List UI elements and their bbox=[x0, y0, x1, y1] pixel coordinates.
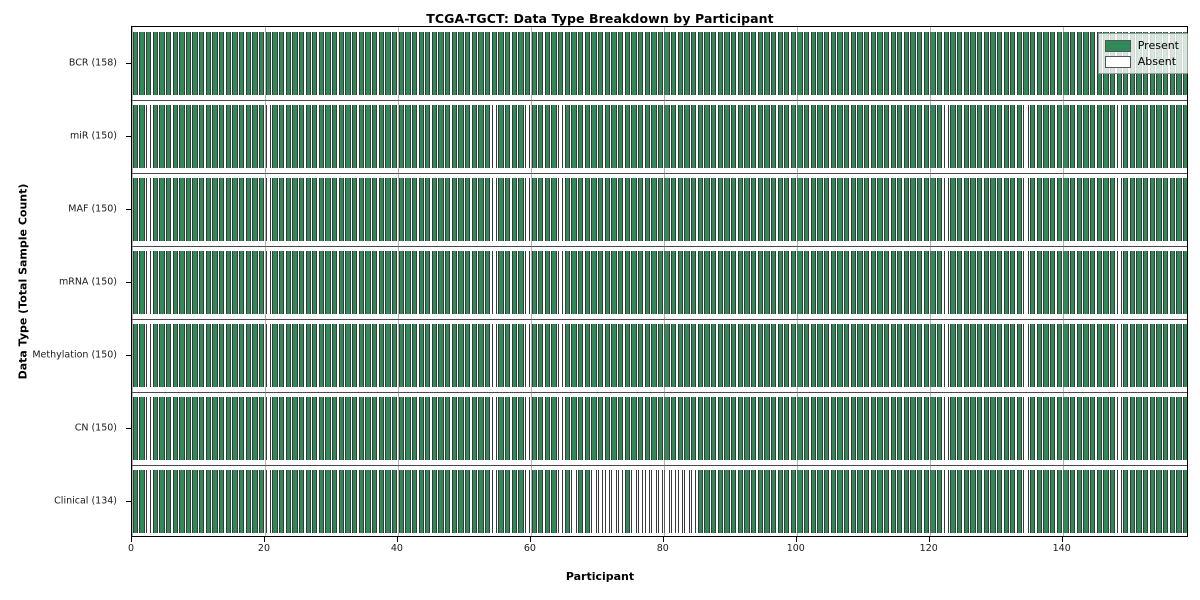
bar-present bbox=[1103, 178, 1108, 241]
bar-present bbox=[831, 105, 836, 168]
bar-present bbox=[153, 178, 158, 241]
bar-present bbox=[817, 470, 822, 533]
bar-absent bbox=[525, 324, 530, 387]
bar-present bbox=[731, 178, 736, 241]
bar-present bbox=[1163, 470, 1168, 533]
bar-present bbox=[505, 178, 510, 241]
bar-present bbox=[611, 32, 616, 95]
bar-present bbox=[485, 324, 490, 387]
bar-present bbox=[518, 178, 523, 241]
bar-present bbox=[332, 178, 337, 241]
bar-present bbox=[611, 105, 616, 168]
bar-present bbox=[857, 251, 862, 314]
bar-absent bbox=[492, 324, 497, 387]
bar-present bbox=[192, 324, 197, 387]
bar-present bbox=[671, 105, 676, 168]
bar-present bbox=[372, 32, 377, 95]
bar-present bbox=[379, 178, 384, 241]
bar-present bbox=[891, 324, 896, 387]
bar-present bbox=[724, 324, 729, 387]
bar-present bbox=[645, 178, 650, 241]
bar-present bbox=[412, 470, 417, 533]
bar-absent bbox=[664, 470, 669, 533]
bar-present bbox=[884, 32, 889, 95]
bar-present bbox=[578, 251, 583, 314]
bar-present bbox=[1057, 470, 1062, 533]
bar-present bbox=[764, 397, 769, 460]
bar-present bbox=[1057, 324, 1062, 387]
bar-present bbox=[738, 470, 743, 533]
bar-present bbox=[1170, 324, 1175, 387]
bar-present bbox=[844, 32, 849, 95]
bar-present bbox=[930, 105, 935, 168]
bar-present bbox=[664, 324, 669, 387]
bar-present bbox=[924, 470, 929, 533]
legend-item-absent[interactable]: Absent bbox=[1105, 55, 1179, 68]
bar-absent bbox=[492, 397, 497, 460]
bar-present bbox=[1010, 324, 1015, 387]
bar-present bbox=[399, 178, 404, 241]
bar-present bbox=[891, 178, 896, 241]
bar-absent bbox=[146, 105, 151, 168]
bar-present bbox=[738, 105, 743, 168]
bar-present bbox=[658, 397, 663, 460]
bar-present bbox=[1143, 397, 1148, 460]
bar-present bbox=[664, 32, 669, 95]
bar-present bbox=[651, 178, 656, 241]
bar-present bbox=[1070, 397, 1075, 460]
bar-present bbox=[731, 324, 736, 387]
bar-present bbox=[1143, 178, 1148, 241]
bar-present bbox=[518, 324, 523, 387]
bar-present bbox=[910, 397, 915, 460]
bar-present bbox=[578, 397, 583, 460]
bar-present bbox=[704, 397, 709, 460]
bar-present bbox=[518, 470, 523, 533]
bar-present bbox=[1030, 324, 1035, 387]
bar-present bbox=[877, 397, 882, 460]
bar-present bbox=[186, 178, 191, 241]
bar-present bbox=[718, 32, 723, 95]
bar-present bbox=[631, 324, 636, 387]
bar-present bbox=[990, 32, 995, 95]
bar-present bbox=[578, 32, 583, 95]
bar-present bbox=[232, 397, 237, 460]
bar-present bbox=[458, 470, 463, 533]
bar-present bbox=[272, 105, 277, 168]
bar-present bbox=[724, 32, 729, 95]
bar-present bbox=[252, 470, 257, 533]
bar-present bbox=[1043, 470, 1048, 533]
bar-present bbox=[758, 105, 763, 168]
bar-present bbox=[957, 105, 962, 168]
bar-present bbox=[771, 251, 776, 314]
bar-present bbox=[212, 470, 217, 533]
bar-present bbox=[1050, 470, 1055, 533]
bar-present bbox=[472, 32, 477, 95]
bar-present bbox=[465, 397, 470, 460]
bar-present bbox=[984, 178, 989, 241]
bar-present bbox=[671, 178, 676, 241]
y-tick-label-cn: CN (150) bbox=[75, 422, 117, 433]
bar-present bbox=[751, 470, 756, 533]
bar-present bbox=[851, 178, 856, 241]
bar-present bbox=[691, 251, 696, 314]
bar-present bbox=[199, 178, 204, 241]
bar-present bbox=[678, 32, 683, 95]
bar-present bbox=[1183, 397, 1188, 460]
bar-present bbox=[199, 324, 204, 387]
bar-present bbox=[319, 105, 324, 168]
bar-present bbox=[379, 324, 384, 387]
bar-present bbox=[133, 32, 138, 95]
bar-present bbox=[1103, 470, 1108, 533]
bar-present bbox=[691, 105, 696, 168]
bar-absent bbox=[1117, 178, 1122, 241]
bar-present bbox=[1017, 251, 1022, 314]
bar-present bbox=[984, 324, 989, 387]
bar-present bbox=[771, 32, 776, 95]
bar-present bbox=[678, 251, 683, 314]
bar-present bbox=[465, 32, 470, 95]
bar-present bbox=[711, 251, 716, 314]
bar-present bbox=[166, 470, 171, 533]
bar-present bbox=[365, 105, 370, 168]
bar-present bbox=[625, 178, 630, 241]
bar-present bbox=[1163, 178, 1168, 241]
bar-present bbox=[1176, 178, 1181, 241]
bar-present bbox=[817, 324, 822, 387]
bar-present bbox=[186, 397, 191, 460]
bar-present bbox=[1143, 251, 1148, 314]
bar-present bbox=[791, 470, 796, 533]
y-tick-label-mrna: mRNA (150) bbox=[59, 276, 117, 287]
bar-present bbox=[532, 178, 537, 241]
legend-item-present[interactable]: Present bbox=[1105, 39, 1179, 52]
bar-present bbox=[618, 105, 623, 168]
bar-present bbox=[206, 470, 211, 533]
bar-present bbox=[990, 105, 995, 168]
bar-present bbox=[804, 178, 809, 241]
bar-present bbox=[671, 251, 676, 314]
bar-present bbox=[910, 105, 915, 168]
bar-present bbox=[1163, 105, 1168, 168]
bar-present bbox=[498, 397, 503, 460]
bar-present bbox=[299, 105, 304, 168]
bar-present bbox=[452, 397, 457, 460]
bar-present bbox=[591, 397, 596, 460]
bar-present bbox=[698, 178, 703, 241]
bar-present bbox=[412, 32, 417, 95]
bar-present bbox=[571, 32, 576, 95]
bar-absent bbox=[146, 397, 151, 460]
bar-present bbox=[186, 105, 191, 168]
bar-present bbox=[192, 251, 197, 314]
bar-present bbox=[392, 324, 397, 387]
bar-present bbox=[1057, 178, 1062, 241]
bar-present bbox=[738, 324, 743, 387]
bar-present bbox=[837, 32, 842, 95]
bar-present bbox=[1043, 32, 1048, 95]
bar-present bbox=[1017, 32, 1022, 95]
bar-present bbox=[990, 470, 995, 533]
bar-present bbox=[970, 397, 975, 460]
bar-present bbox=[292, 32, 297, 95]
y-tick-label-mir: miR (150) bbox=[70, 130, 117, 141]
bar-present bbox=[645, 397, 650, 460]
bar-present bbox=[139, 178, 144, 241]
bar-present bbox=[784, 324, 789, 387]
bar-present bbox=[259, 32, 264, 95]
bar-present bbox=[485, 251, 490, 314]
bar-present bbox=[306, 251, 311, 314]
bar-present bbox=[399, 251, 404, 314]
x-tick-label: 0 bbox=[128, 543, 134, 554]
bar-present bbox=[465, 324, 470, 387]
bar-absent bbox=[1023, 105, 1028, 168]
bar-absent bbox=[146, 178, 151, 241]
bar-present bbox=[339, 324, 344, 387]
bar-absent bbox=[558, 470, 563, 533]
bar-present bbox=[412, 105, 417, 168]
bar-present bbox=[718, 105, 723, 168]
bar-present bbox=[319, 32, 324, 95]
bar-present bbox=[1097, 397, 1102, 460]
bar-present bbox=[1123, 251, 1128, 314]
bar-present bbox=[159, 32, 164, 95]
bar-present bbox=[658, 32, 663, 95]
bar-present bbox=[764, 105, 769, 168]
bar-present bbox=[319, 324, 324, 387]
bar-present bbox=[678, 324, 683, 387]
bar-present bbox=[658, 178, 663, 241]
bar-present bbox=[532, 470, 537, 533]
bar-present bbox=[1030, 105, 1035, 168]
bar-present bbox=[618, 397, 623, 460]
bar-present bbox=[724, 251, 729, 314]
bar-present bbox=[891, 32, 896, 95]
bar-present bbox=[159, 324, 164, 387]
bar-present bbox=[1070, 178, 1075, 241]
bar-present bbox=[585, 324, 590, 387]
bar-present bbox=[485, 470, 490, 533]
bar-present bbox=[1004, 105, 1009, 168]
bar-present bbox=[1136, 470, 1141, 533]
bar-present bbox=[133, 397, 138, 460]
bar-present bbox=[272, 32, 277, 95]
bar-present bbox=[226, 32, 231, 95]
y-axis-label: Data Type (Total Sample Count) bbox=[17, 22, 30, 542]
bar-present bbox=[638, 178, 643, 241]
bar-present bbox=[206, 178, 211, 241]
bar-present bbox=[518, 251, 523, 314]
plot-area bbox=[131, 26, 1188, 537]
bar-present bbox=[339, 32, 344, 95]
bar-present bbox=[219, 32, 224, 95]
bar-present bbox=[1123, 397, 1128, 460]
bar-present bbox=[930, 324, 935, 387]
bar-present bbox=[325, 178, 330, 241]
bar-present bbox=[286, 397, 291, 460]
bar-present bbox=[458, 324, 463, 387]
bar-absent bbox=[944, 251, 949, 314]
bar-present bbox=[1083, 178, 1088, 241]
bar-present bbox=[598, 32, 603, 95]
bar-present bbox=[266, 32, 271, 95]
bar-absent bbox=[684, 470, 689, 533]
bar-present bbox=[1083, 105, 1088, 168]
bar-present bbox=[585, 251, 590, 314]
bar-present bbox=[392, 32, 397, 95]
bar-present bbox=[1043, 178, 1048, 241]
bar-present bbox=[139, 324, 144, 387]
bar-present bbox=[844, 397, 849, 460]
bar-present bbox=[664, 397, 669, 460]
bar-present bbox=[917, 178, 922, 241]
bar-present bbox=[1004, 178, 1009, 241]
bar-present bbox=[1130, 178, 1135, 241]
chart-legend[interactable]: PresentAbsent bbox=[1098, 33, 1188, 74]
bar-present bbox=[332, 32, 337, 95]
bar-absent bbox=[266, 470, 271, 533]
bar-present bbox=[1017, 397, 1022, 460]
bar-present bbox=[691, 32, 696, 95]
bar-present bbox=[977, 470, 982, 533]
bar-present bbox=[153, 251, 158, 314]
bar-present bbox=[212, 324, 217, 387]
bar-present bbox=[824, 178, 829, 241]
bar-present bbox=[133, 251, 138, 314]
bar-present bbox=[405, 251, 410, 314]
bar-present bbox=[365, 32, 370, 95]
bar-present bbox=[1097, 178, 1102, 241]
bar-present bbox=[1136, 178, 1141, 241]
bar-present bbox=[804, 251, 809, 314]
bar-present bbox=[1063, 105, 1068, 168]
bar-present bbox=[1156, 178, 1161, 241]
bar-present bbox=[1083, 32, 1088, 95]
bar-present bbox=[844, 470, 849, 533]
bar-present bbox=[485, 32, 490, 95]
bar-present bbox=[811, 397, 816, 460]
bar-present bbox=[857, 105, 862, 168]
bar-present bbox=[797, 470, 802, 533]
bar-present bbox=[445, 178, 450, 241]
bar-present bbox=[611, 397, 616, 460]
bar-present bbox=[438, 251, 443, 314]
bar-present bbox=[359, 324, 364, 387]
bar-present bbox=[977, 105, 982, 168]
bar-present bbox=[944, 32, 949, 95]
x-tick-label: 140 bbox=[1053, 543, 1071, 554]
bar-present bbox=[505, 251, 510, 314]
bar-present bbox=[538, 470, 543, 533]
bar-present bbox=[1077, 178, 1082, 241]
bar-absent bbox=[944, 397, 949, 460]
y-tick-label-methylation: Methylation (150) bbox=[32, 349, 117, 360]
bar-present bbox=[252, 397, 257, 460]
bar-present bbox=[804, 470, 809, 533]
bar-present bbox=[518, 32, 523, 95]
bar-present bbox=[545, 324, 550, 387]
bar-present bbox=[984, 105, 989, 168]
bar-present bbox=[405, 397, 410, 460]
bar-present bbox=[219, 178, 224, 241]
bar-present bbox=[159, 470, 164, 533]
bar-present bbox=[438, 105, 443, 168]
bar-present bbox=[924, 324, 929, 387]
bar-present bbox=[199, 470, 204, 533]
bar-absent bbox=[146, 251, 151, 314]
bar-present bbox=[678, 105, 683, 168]
bar-present bbox=[764, 324, 769, 387]
bar-present bbox=[179, 32, 184, 95]
bar-present bbox=[778, 32, 783, 95]
bar-present bbox=[438, 470, 443, 533]
bar-present bbox=[1037, 178, 1042, 241]
bar-present bbox=[425, 178, 430, 241]
bar-present bbox=[704, 251, 709, 314]
bar-present bbox=[279, 32, 284, 95]
bar-present bbox=[252, 105, 257, 168]
bar-present bbox=[405, 105, 410, 168]
bar-present bbox=[339, 178, 344, 241]
bar-present bbox=[1123, 105, 1128, 168]
bar-present bbox=[1037, 324, 1042, 387]
bar-absent bbox=[146, 324, 151, 387]
bar-present bbox=[884, 470, 889, 533]
bar-present bbox=[744, 324, 749, 387]
bar-present bbox=[219, 251, 224, 314]
bar-present bbox=[1176, 397, 1181, 460]
bar-present bbox=[631, 178, 636, 241]
bar-present bbox=[1017, 178, 1022, 241]
bar-present bbox=[950, 32, 955, 95]
bar-present bbox=[904, 32, 909, 95]
bar-present bbox=[192, 105, 197, 168]
bar-present bbox=[1103, 324, 1108, 387]
bar-present bbox=[325, 324, 330, 387]
bar-present bbox=[884, 251, 889, 314]
bar-present bbox=[1123, 470, 1128, 533]
bar-present bbox=[877, 251, 882, 314]
bar-present bbox=[831, 251, 836, 314]
bar-present bbox=[638, 105, 643, 168]
bar-present bbox=[219, 397, 224, 460]
bar-present bbox=[139, 251, 144, 314]
bar-present bbox=[678, 178, 683, 241]
bar-present bbox=[312, 470, 317, 533]
bar-present bbox=[824, 470, 829, 533]
bar-present bbox=[226, 105, 231, 168]
bar-present bbox=[1004, 397, 1009, 460]
heatmap-row bbox=[132, 173, 1187, 246]
bar-present bbox=[186, 32, 191, 95]
bar-present bbox=[1083, 251, 1088, 314]
bar-present bbox=[312, 251, 317, 314]
bar-present bbox=[1050, 324, 1055, 387]
bar-present bbox=[1136, 397, 1141, 460]
bar-present bbox=[239, 251, 244, 314]
bar-present bbox=[239, 324, 244, 387]
bar-present bbox=[259, 178, 264, 241]
bar-present bbox=[871, 324, 876, 387]
legend-label: Present bbox=[1138, 39, 1179, 52]
bar-present bbox=[851, 324, 856, 387]
bar-absent bbox=[651, 470, 656, 533]
bar-present bbox=[565, 324, 570, 387]
x-tick-label: 80 bbox=[657, 543, 669, 554]
